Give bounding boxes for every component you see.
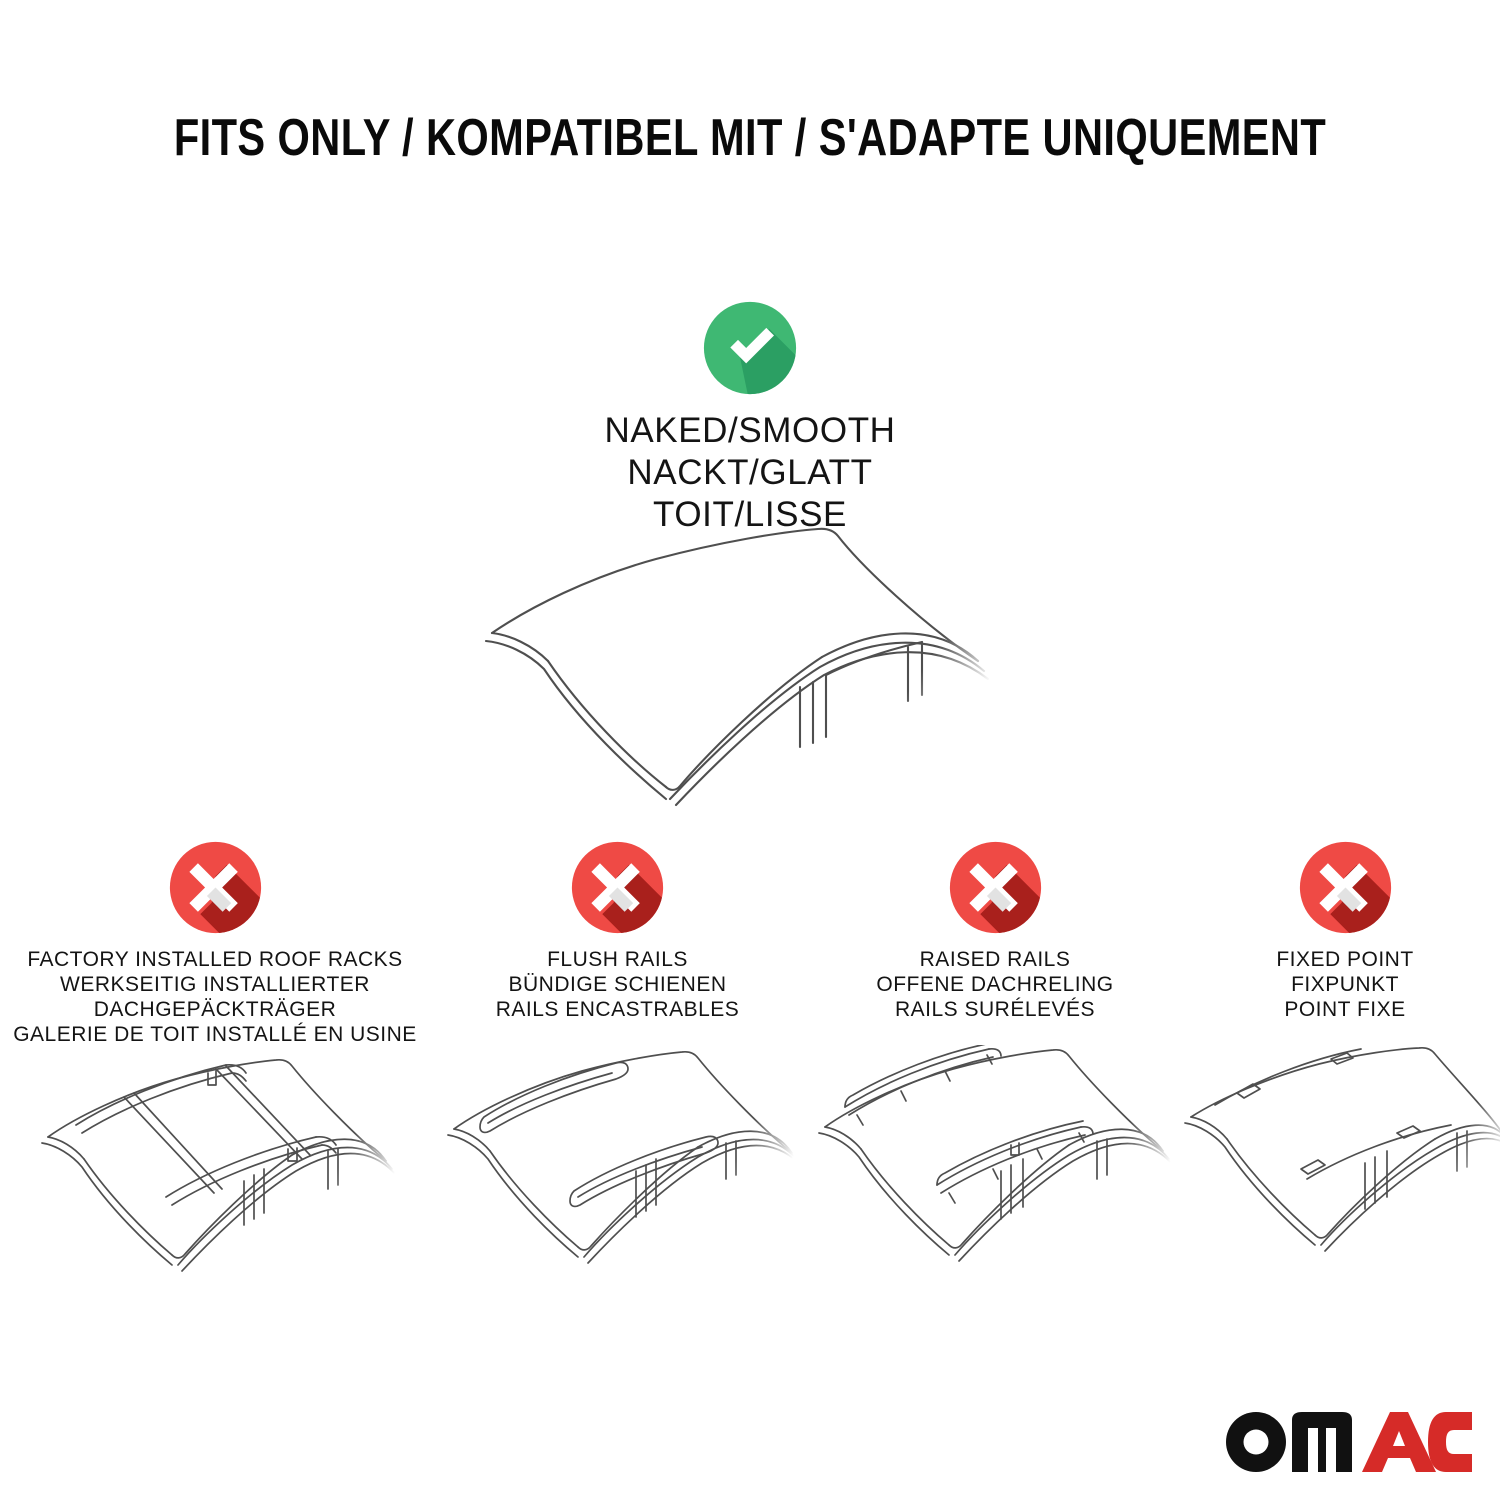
incompatible-item-raised-rails: RAISED RAILS OFFENE DACHRELING RAILS SUR… (810, 840, 1180, 1022)
cross-circle-icon (570, 840, 665, 935)
caption-line-2: WERKSEITIG INSTALLIERTER (10, 972, 420, 997)
cross-circle-icon (168, 840, 263, 935)
compatible-caption-line-2: NACKT/GLATT (0, 452, 1500, 494)
caption-line-4: GALERIE DE TOIT INSTALLÉ EN USINE (10, 1022, 420, 1047)
fitment-infographic: FITS ONLY / KOMPATIBEL MIT / S'ADAPTE UN… (0, 0, 1500, 1500)
naked-smooth-roof-drawing (470, 515, 1030, 815)
caption-line-2: BÜNDIGE SCHIENEN (440, 972, 795, 997)
omac-logo (1222, 1400, 1472, 1478)
caption-line-1: RAISED RAILS (810, 947, 1180, 972)
logo-letter-o (1226, 1412, 1286, 1472)
fixed-point-drawing (1175, 1045, 1500, 1295)
caption-line-1: FACTORY INSTALLED ROOF RACKS (10, 947, 420, 972)
raised-rails-drawing (805, 1045, 1190, 1295)
incompatible-item-fixed-point: FIXED POINT FIXPUNKT POINT FIXE (1195, 840, 1495, 1022)
caption-line-3: POINT FIXE (1195, 997, 1495, 1022)
caption-line-3: DACHGEPÄCKTRÄGER (10, 997, 420, 1022)
cross-circle-icon (1298, 840, 1393, 935)
cross-circle-icon (948, 840, 1043, 935)
page-title: FITS ONLY / KOMPATIBEL MIT / S'ADAPTE UN… (150, 108, 1350, 168)
incompatible-item-factory-roof-racks: FACTORY INSTALLED ROOF RACKS WERKSEITIG … (10, 840, 420, 1047)
logo-letter-A (1362, 1412, 1436, 1472)
incompatible-caption: FIXED POINT FIXPUNKT POINT FIXE (1195, 947, 1495, 1022)
flush-rails-drawing (440, 1045, 810, 1295)
caption-line-2: OFFENE DACHRELING (810, 972, 1180, 997)
incompatible-caption: RAISED RAILS OFFENE DACHRELING RAILS SUR… (810, 947, 1180, 1022)
compatible-caption-line-1: NAKED/SMOOTH (0, 410, 1500, 452)
compatible-section: NAKED/SMOOTH NACKT/GLATT TOIT/LISSE (0, 300, 1500, 536)
check-circle-icon (702, 300, 798, 396)
incompatible-item-flush-rails: FLUSH RAILS BÜNDIGE SCHIENEN RAILS ENCAS… (440, 840, 795, 1022)
caption-line-1: FIXED POINT (1195, 947, 1495, 972)
factory-roof-rack-drawing (30, 1045, 420, 1295)
incompatible-section: FACTORY INSTALLED ROOF RACKS WERKSEITIG … (0, 840, 1500, 1460)
caption-line-3: RAILS SURÉLEVÉS (810, 997, 1180, 1022)
incompatible-caption: FLUSH RAILS BÜNDIGE SCHIENEN RAILS ENCAS… (440, 947, 795, 1022)
logo-letter-C (1428, 1412, 1472, 1472)
logo-letter-m (1292, 1412, 1352, 1472)
caption-line-1: FLUSH RAILS (440, 947, 795, 972)
caption-line-2: FIXPUNKT (1195, 972, 1495, 997)
incompatible-caption: FACTORY INSTALLED ROOF RACKS WERKSEITIG … (10, 947, 420, 1047)
caption-line-3: RAILS ENCASTRABLES (440, 997, 795, 1022)
